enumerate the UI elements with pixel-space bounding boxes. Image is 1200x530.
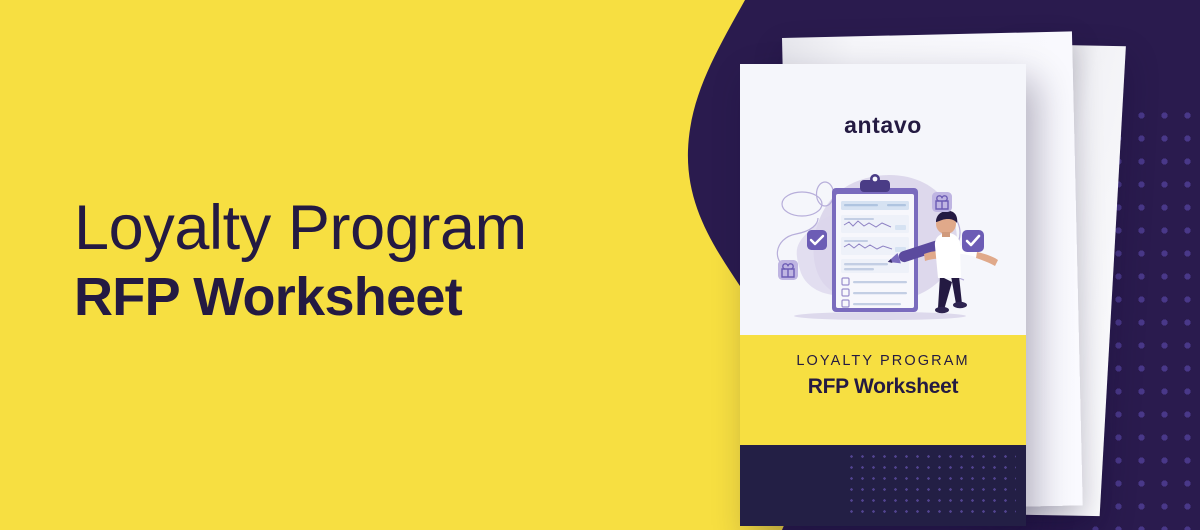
antavo-logo: antavo	[740, 112, 1026, 139]
clipboard	[832, 174, 918, 312]
gift-badge-left	[778, 260, 798, 280]
cover-illustration	[748, 158, 1018, 333]
headline-block: Loyalty Program RFP Worksheet	[74, 196, 714, 327]
cover-eyebrow: LOYALTY PROGRAM	[740, 353, 1026, 369]
promo-banner: Loyalty Program RFP Worksheet antavo	[0, 0, 1200, 530]
cover-footer-band	[740, 445, 1026, 526]
ebook-mockup: antavo	[718, 24, 1138, 524]
ebook-cover: antavo	[740, 64, 1026, 526]
headline-line-2: RFP Worksheet	[74, 268, 714, 326]
check-badge-left	[807, 230, 827, 250]
cover-title: RFP Worksheet	[740, 375, 1026, 399]
headline-line-1: Loyalty Program	[74, 196, 714, 260]
check-badge-right	[962, 230, 984, 252]
gift-badge-top	[932, 192, 952, 212]
cover-caption: LOYALTY PROGRAM RFP Worksheet	[740, 353, 1026, 399]
cover-footer-dots	[846, 451, 1016, 521]
